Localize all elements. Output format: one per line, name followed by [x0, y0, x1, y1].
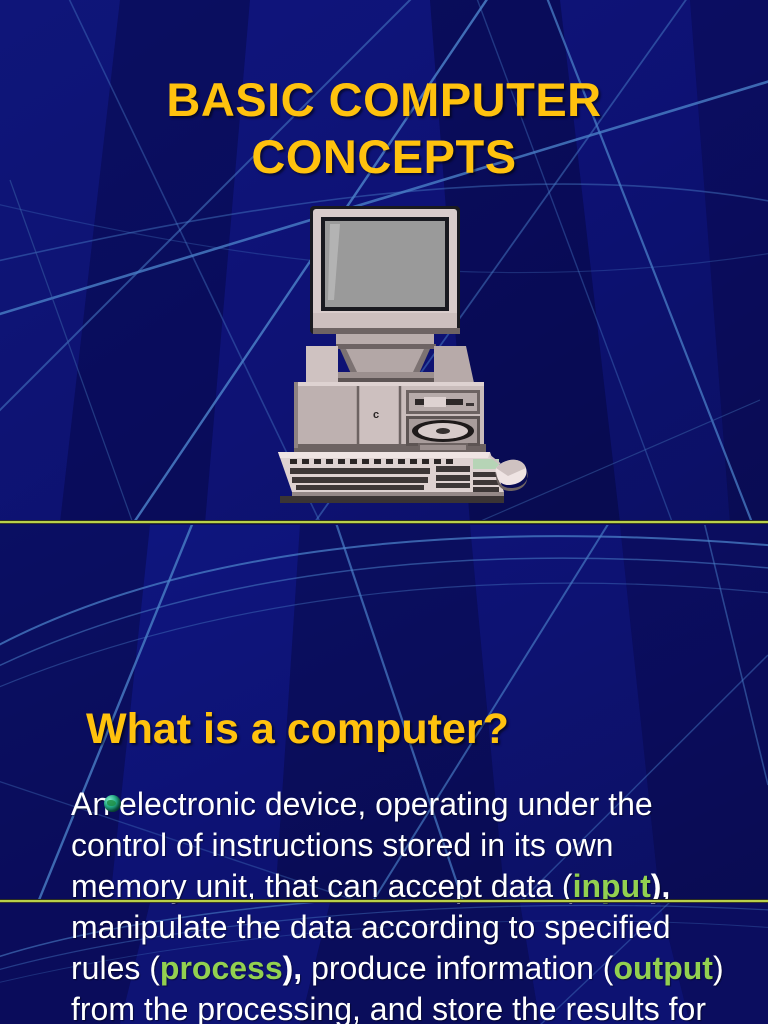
- slide-divider-2: [0, 899, 768, 903]
- body-segment-6: produce information (: [311, 950, 613, 986]
- keyword-output: output: [613, 950, 713, 986]
- green-globe-bullet-icon: [104, 795, 121, 812]
- keyword-process: process: [160, 950, 283, 986]
- slide2-body-text: An electronic device, operating under th…: [71, 784, 731, 1024]
- body-segment-5: ),: [283, 950, 311, 986]
- title-line-2: CONCEPTS: [251, 130, 516, 183]
- slide2-heading: What is a computer?: [86, 704, 509, 754]
- slide-divider-1: [0, 520, 768, 524]
- body-segment-0: An electronic device, operating under th…: [71, 786, 653, 904]
- svg-text:c: c: [373, 409, 379, 421]
- presentation-page: BASIC COMPUTER CONCEPTS: [0, 0, 768, 1024]
- page-title: BASIC COMPUTER CONCEPTS: [0, 71, 768, 185]
- title-line-1: BASIC COMPUTER: [166, 73, 601, 126]
- desktop-computer-illustration: c: [268, 200, 532, 510]
- slide-title: BASIC COMPUTER CONCEPTS: [0, 0, 768, 523]
